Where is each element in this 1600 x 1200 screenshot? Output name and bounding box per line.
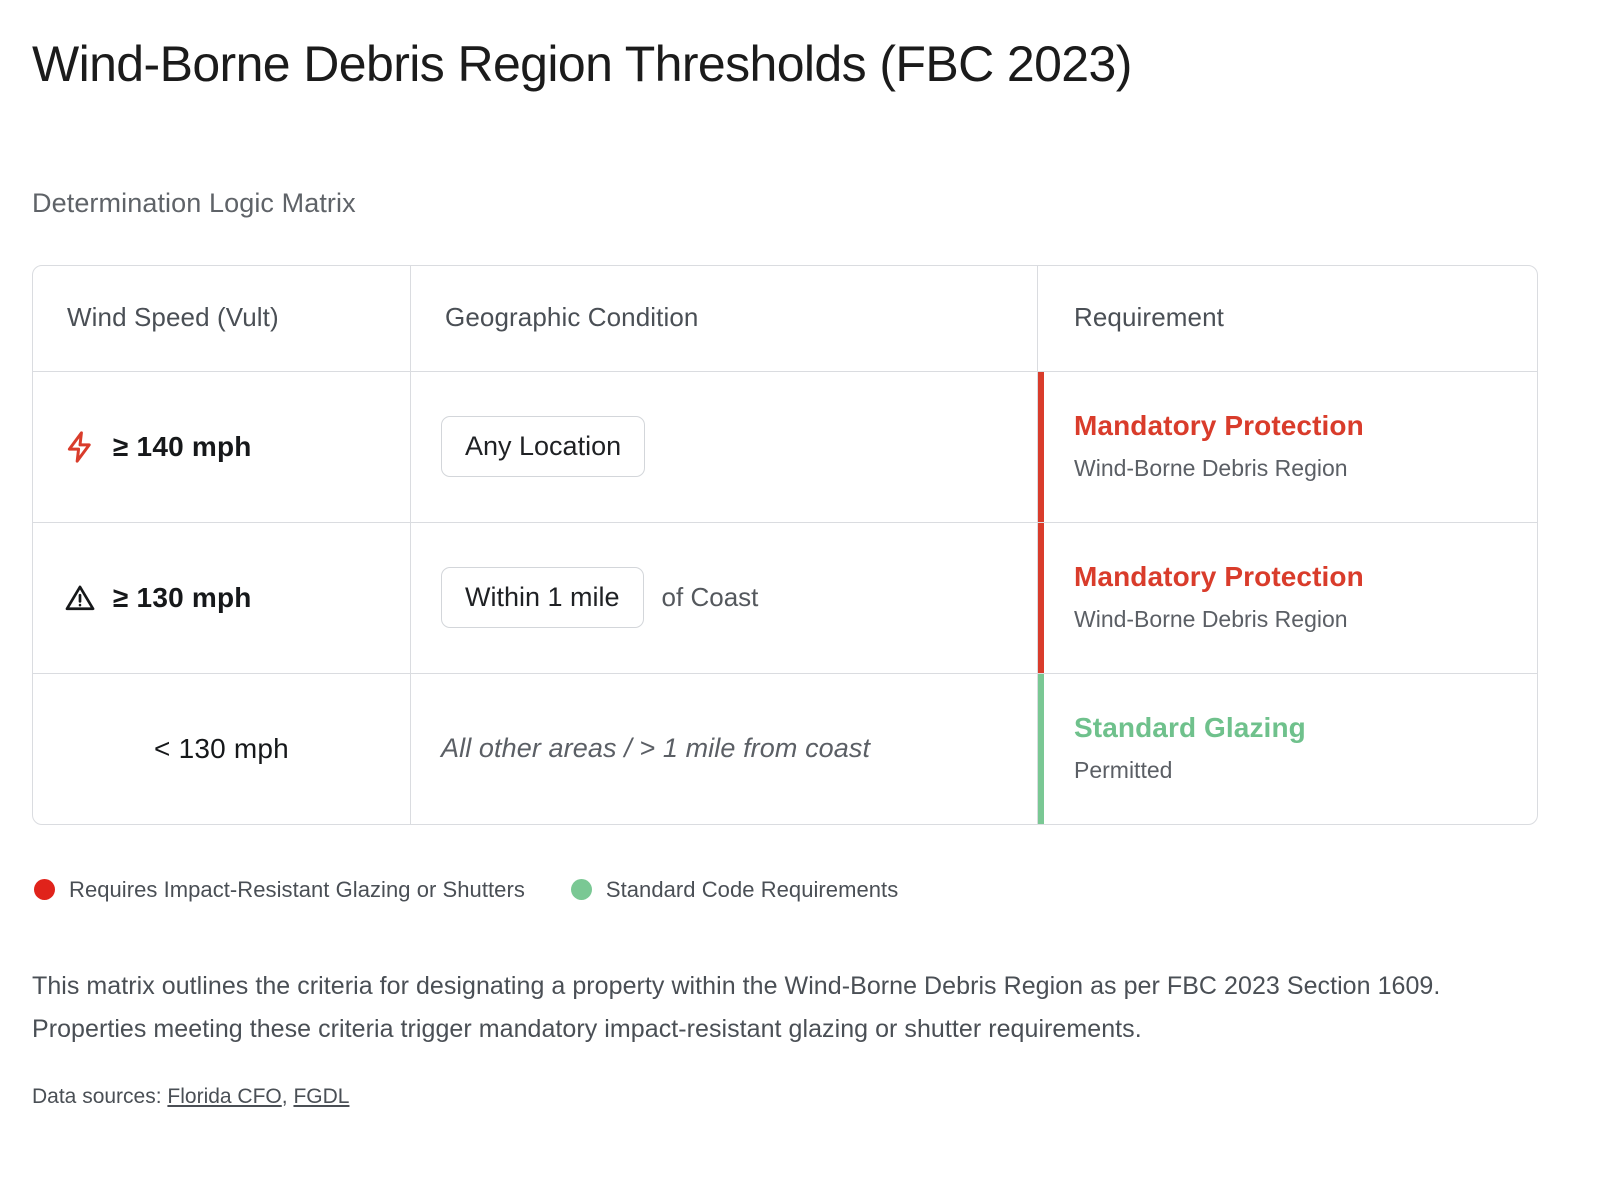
- geographic-condition-cell: All other areas / > 1 mile from coast: [411, 674, 1038, 824]
- requirement-subtitle: Wind-Borne Debris Region: [1074, 606, 1507, 634]
- legend-dot-red: [34, 879, 55, 900]
- requirement-title: Mandatory Protection: [1074, 410, 1507, 442]
- warning-triangle-icon: [63, 581, 97, 615]
- requirement-subtitle: Wind-Borne Debris Region: [1074, 455, 1507, 483]
- column-header-wind-speed: Wind Speed (Vult): [33, 266, 411, 371]
- requirement-title: Mandatory Protection: [1074, 561, 1507, 593]
- table-row: ≥ 140 mph Any Location Mandatory Protect…: [33, 371, 1537, 522]
- wind-speed-value: ≥ 130 mph: [113, 582, 252, 614]
- page-root: Wind-Borne Debris Region Thresholds (FBC…: [0, 0, 1600, 1200]
- requirement-cell: Standard Glazing Permitted: [1038, 674, 1537, 824]
- footer-description: This matrix outlines the criteria for de…: [32, 965, 1542, 1051]
- data-source-link-fgdl[interactable]: FGDL: [293, 1085, 349, 1108]
- wind-speed-cell: < 130 mph: [33, 674, 411, 824]
- requirement-cell: Mandatory Protection Wind-Borne Debris R…: [1038, 372, 1537, 522]
- legend: Requires Impact-Resistant Glazing or Shu…: [32, 877, 1566, 903]
- requirement-title: Standard Glazing: [1074, 712, 1507, 744]
- page-title: Wind-Borne Debris Region Thresholds (FBC…: [32, 30, 1566, 94]
- condition-chip[interactable]: Within 1 mile: [441, 567, 644, 628]
- wind-speed-cell: ≥ 130 mph: [33, 523, 411, 673]
- legend-item-standard: Standard Code Requirements: [571, 877, 898, 903]
- data-sources: Data sources: Florida CFO, FGDL: [32, 1085, 1566, 1109]
- wind-speed-value: < 130 mph: [154, 733, 289, 765]
- legend-label: Requires Impact-Resistant Glazing or Shu…: [69, 877, 525, 903]
- condition-note: All other areas / > 1 mile from coast: [441, 733, 870, 764]
- table-row: ≥ 130 mph Within 1 mile of Coast Mandato…: [33, 522, 1537, 673]
- column-header-geographic-condition: Geographic Condition: [411, 266, 1038, 371]
- requirement-cell: Mandatory Protection Wind-Borne Debris R…: [1038, 523, 1537, 673]
- data-source-link-florida-cfo[interactable]: Florida CFO: [167, 1085, 281, 1108]
- column-header-requirement: Requirement: [1038, 266, 1537, 371]
- condition-chip-suffix: of Coast: [662, 582, 759, 613]
- page-subtitle: Determination Logic Matrix: [32, 188, 1566, 219]
- wind-speed-group: ≥ 140 mph: [63, 430, 252, 464]
- wind-speed-group: ≥ 130 mph: [63, 581, 252, 615]
- condition-chip[interactable]: Any Location: [441, 416, 645, 477]
- geographic-condition-cell: Within 1 mile of Coast: [411, 523, 1038, 673]
- legend-dot-green: [571, 879, 592, 900]
- legend-item-mandatory: Requires Impact-Resistant Glazing or Shu…: [34, 877, 525, 903]
- accent-bar: [1038, 674, 1044, 824]
- data-sources-label: Data sources:: [32, 1085, 162, 1108]
- wind-speed-value: ≥ 140 mph: [113, 431, 252, 463]
- table-row: < 130 mph All other areas / > 1 mile fro…: [33, 673, 1537, 824]
- legend-label: Standard Code Requirements: [606, 877, 898, 903]
- accent-bar: [1038, 523, 1044, 673]
- geographic-condition-cell: Any Location: [411, 372, 1038, 522]
- requirement-subtitle: Permitted: [1074, 757, 1507, 785]
- table-header-row: Wind Speed (Vult) Geographic Condition R…: [33, 266, 1537, 371]
- lightning-bolt-icon: [63, 430, 97, 464]
- wind-speed-group: < 130 mph: [63, 733, 380, 765]
- determination-logic-matrix: Wind Speed (Vult) Geographic Condition R…: [32, 265, 1538, 825]
- data-sources-separator: ,: [282, 1085, 288, 1108]
- accent-bar: [1038, 372, 1044, 522]
- wind-speed-cell: ≥ 140 mph: [33, 372, 411, 522]
